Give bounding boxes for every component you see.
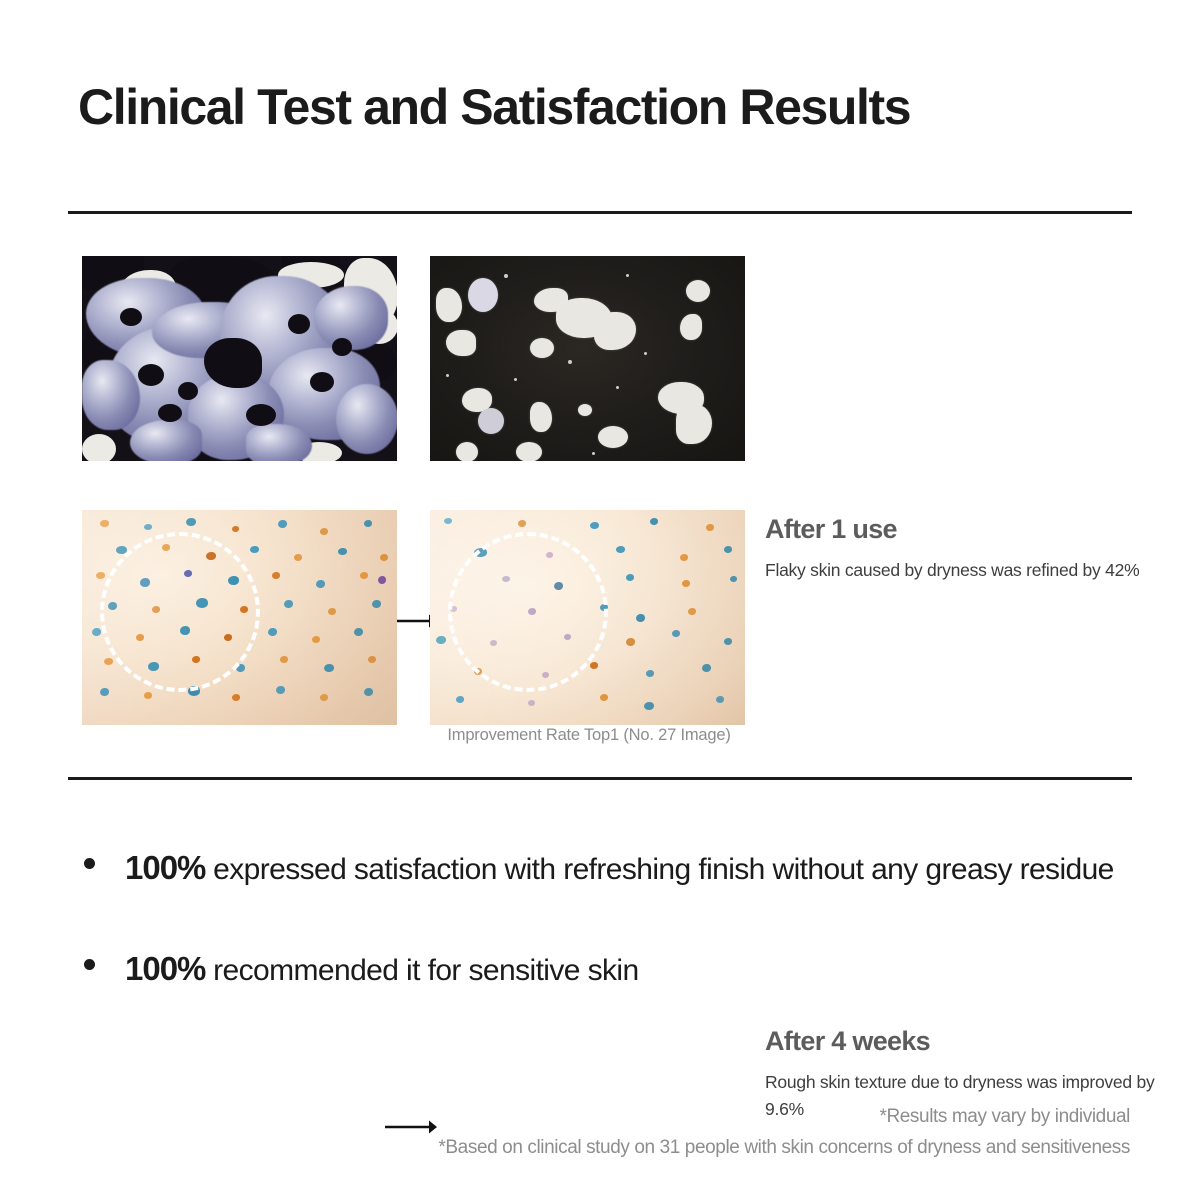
satisfaction-label-2: recommended it for sensitive skin xyxy=(213,954,638,987)
microscope-image-after xyxy=(430,256,745,461)
caption-improvement-rate-top1: Improvement Rate Top1 (No. 27 Image) xyxy=(430,726,748,745)
highlight-circle-after xyxy=(448,532,608,692)
bullet-dot-icon xyxy=(84,858,95,869)
divider-top xyxy=(68,211,1132,214)
satisfaction-text-2: 100% recommended it for sensitive skin xyxy=(125,939,1200,998)
skin-before-render xyxy=(82,510,397,725)
result-heading-after-1-use: After 1 use xyxy=(765,514,1165,545)
microscope-after-render xyxy=(430,256,745,461)
footnote-2: *Based on clinical study on 31 people wi… xyxy=(30,1133,1130,1164)
page-title: Clinical Test and Satisfaction Results xyxy=(78,80,1138,135)
bullet-dot-icon xyxy=(84,959,95,970)
satisfaction-label-1: expressed satisfaction with refreshing f… xyxy=(213,853,1114,886)
satisfaction-list: 100% expressed satisfaction with refresh… xyxy=(0,838,1200,1041)
list-item: 100% recommended it for sensitive skin xyxy=(0,939,1200,998)
result-block-after-1-use: After 1 use Flaky skin caused by dryness… xyxy=(765,514,1165,584)
highlight-circle-before xyxy=(100,532,260,692)
divider-bottom xyxy=(68,777,1132,780)
result-body-after-1-use: Flaky skin caused by dryness was refined… xyxy=(765,557,1165,584)
skin-texture-image-before xyxy=(82,510,397,725)
skin-texture-image-after xyxy=(430,510,745,725)
satisfaction-text-1: 100% expressed satisfaction with refresh… xyxy=(125,838,1200,897)
footnote-1: *Results may vary by individual xyxy=(30,1102,1130,1133)
skin-after-render xyxy=(430,510,745,725)
satisfaction-percent-1: 100% xyxy=(125,849,205,886)
microscope-image-before xyxy=(82,256,397,461)
clinical-results-page: Clinical Test and Satisfaction Results xyxy=(0,0,1200,1200)
satisfaction-percent-2: 100% xyxy=(125,950,205,987)
list-item: 100% expressed satisfaction with refresh… xyxy=(0,838,1200,897)
microscope-before-render xyxy=(82,256,397,461)
footnotes: *Results may vary by individual *Based o… xyxy=(30,1102,1130,1164)
